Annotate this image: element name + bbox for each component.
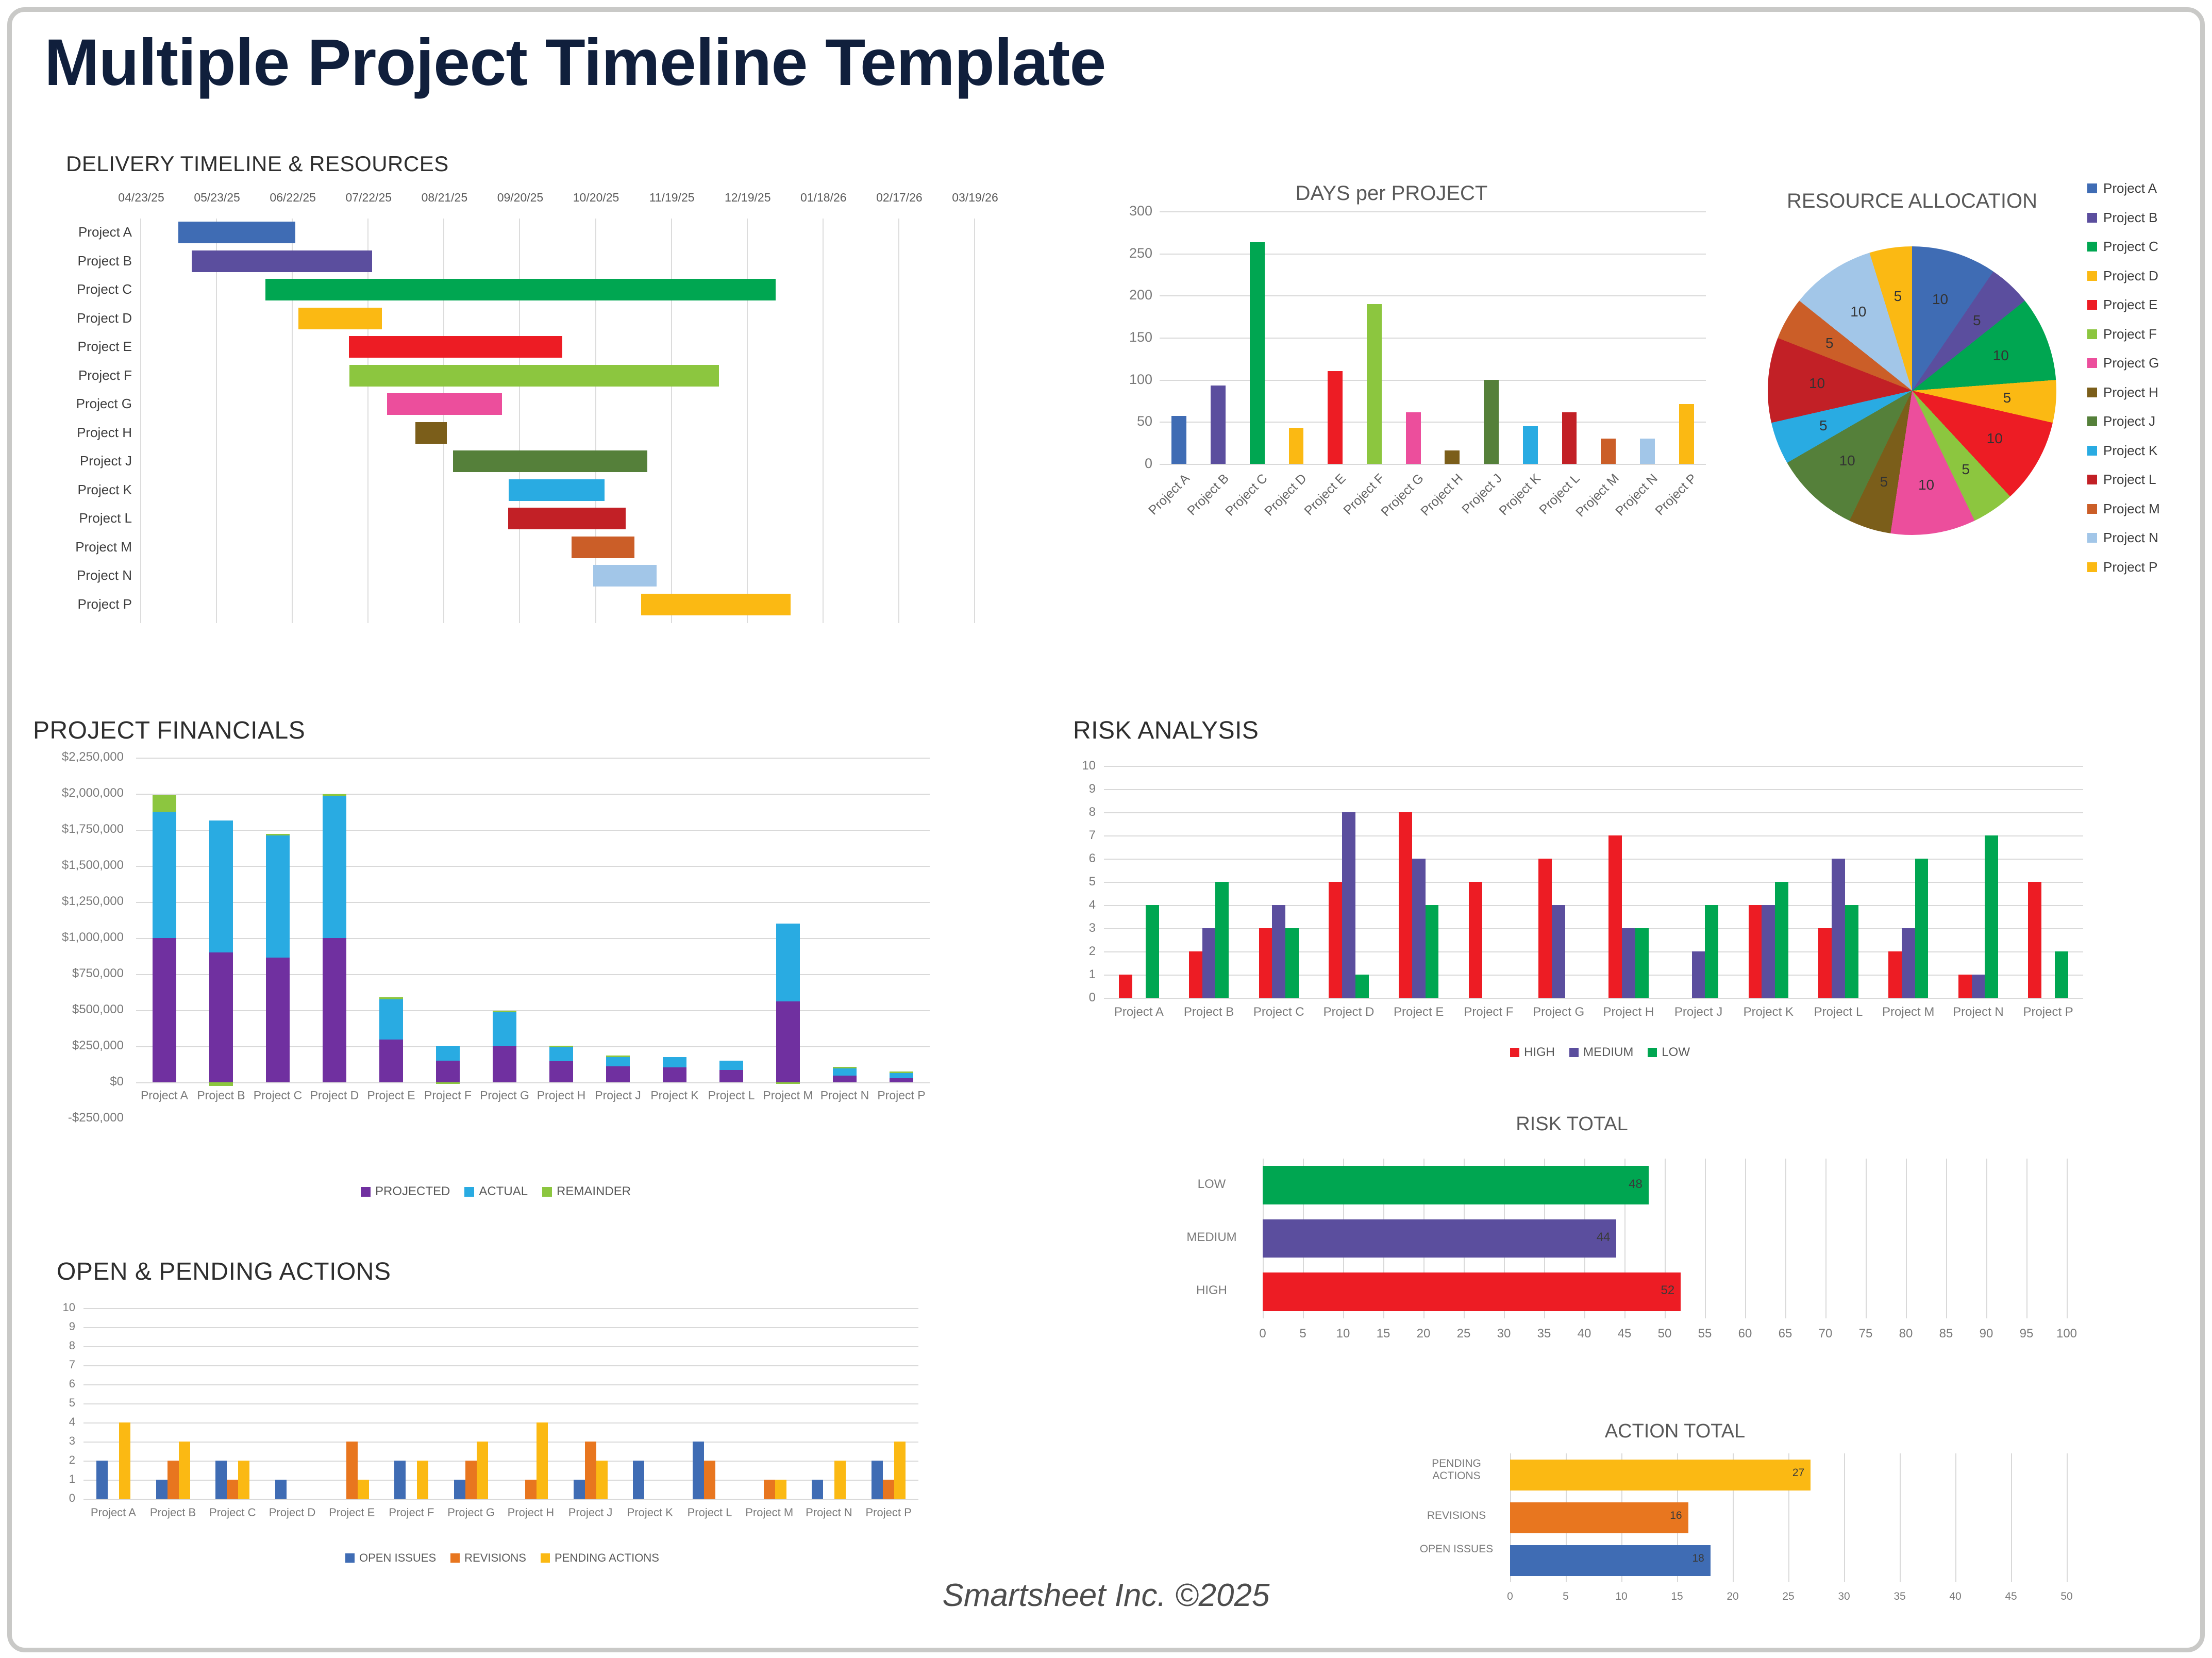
risk-bar-high-project-d[interactable] <box>1329 882 1342 998</box>
risk-bar-high-project-p[interactable] <box>2028 882 2041 998</box>
financials-bar-projected[interactable] <box>719 1070 743 1082</box>
gantt-bar-project-c[interactable] <box>265 279 776 300</box>
x-axis-tick: Project C <box>1244 1005 1314 1019</box>
action-bar-revisions-project-h[interactable] <box>525 1480 537 1499</box>
risk-bar-high-project-k[interactable] <box>1749 905 1762 998</box>
y-axis-tick: 6 <box>1073 851 1096 866</box>
risk-bar-low-project-n[interactable] <box>1985 835 1998 998</box>
days-bar-project-j[interactable] <box>1484 380 1499 464</box>
x-axis-tick: Project N <box>1943 1005 2014 1019</box>
action-bar-revisions-project-e[interactable] <box>346 1442 358 1499</box>
gridline <box>1160 380 1706 381</box>
y-axis-tick: $2,250,000 <box>33 750 124 764</box>
financials-bar-actual[interactable] <box>266 835 290 958</box>
x-axis-tick: Project P <box>2013 1005 2083 1019</box>
gridline <box>136 866 930 867</box>
legend-swatch <box>2087 562 2097 572</box>
risk-bar-high-project-g[interactable] <box>1538 859 1552 998</box>
gantt-row-label-project-l: Project L <box>62 510 132 526</box>
y-axis-tick: 2 <box>1073 944 1096 959</box>
project-financials-chart: -$250,000$0$250,000$500,000$750,000$1,00… <box>33 752 940 1175</box>
x-axis-tick: 40 <box>1562 1327 1607 1341</box>
gridline <box>1160 254 1706 255</box>
financials-bar-actual[interactable] <box>719 1061 743 1070</box>
action-bar-pending-actions-project-n[interactable] <box>834 1461 846 1499</box>
risk-total-bar-low[interactable] <box>1263 1166 1649 1204</box>
risk-bar-high-project-b[interactable] <box>1189 951 1202 998</box>
financials-bar-projected[interactable] <box>493 1046 516 1082</box>
risk-bar-high-project-c[interactable] <box>1259 928 1272 998</box>
legend-item-revisions[interactable]: REVISIONS <box>450 1551 526 1565</box>
financials-bar-actual[interactable] <box>606 1057 630 1067</box>
risk-bar-medium-project-h[interactable] <box>1622 928 1635 998</box>
risk-bar-low-project-k[interactable] <box>1775 882 1788 998</box>
legend-label: Project N <box>2103 530 2158 546</box>
legend-swatch <box>2087 358 2097 368</box>
x-axis-tick: Project C <box>203 1506 262 1519</box>
financials-bar-remainder[interactable] <box>209 1082 233 1086</box>
days-bar-project-f[interactable] <box>1367 304 1382 464</box>
financials-bar-actual[interactable] <box>323 796 346 938</box>
gridline <box>83 1461 918 1462</box>
action-bar-pending-actions-project-a[interactable] <box>119 1422 130 1499</box>
pie-slice-label: 5 <box>1819 417 1828 434</box>
financials-bar-remainder[interactable] <box>776 1082 800 1084</box>
data-label: 18 <box>1682 1552 1704 1565</box>
gridline <box>1160 295 1706 296</box>
financials-bar-actual[interactable] <box>549 1047 573 1061</box>
financials-bar-actual[interactable] <box>663 1057 686 1067</box>
gridline <box>1705 1159 1706 1318</box>
risk-bar-low-project-e[interactable] <box>1426 905 1439 998</box>
x-axis-tick: 10 <box>1320 1327 1366 1341</box>
gantt-row-label-project-j: Project J <box>62 453 132 469</box>
x-axis-tick: Project E <box>1272 471 1349 547</box>
gantt-bar-project-b[interactable] <box>192 250 372 272</box>
y-axis-tick: 1 <box>1073 967 1096 982</box>
gantt-bar-project-k[interactable] <box>509 479 605 501</box>
legend-label: Project L <box>2103 472 2156 488</box>
legend-label: ACTUAL <box>479 1184 528 1199</box>
financials-bar-remainder[interactable] <box>266 834 290 835</box>
pie-legend-item-project-b[interactable]: Project B <box>2087 210 2160 226</box>
x-axis-tick: 0 <box>1240 1327 1285 1341</box>
financials-legend-remainder[interactable]: REMAINDER <box>542 1184 631 1199</box>
risk-bar-medium-project-b[interactable] <box>1202 928 1216 998</box>
pie-slice-label: 10 <box>1918 477 1934 493</box>
gridline <box>2067 1453 2068 1582</box>
x-axis-tick: Project J <box>1429 471 1505 547</box>
action-bar-open-issues-project-n[interactable] <box>812 1480 823 1499</box>
action-bar-pending-actions-project-b[interactable] <box>179 1442 190 1499</box>
risk-bar-high-project-m[interactable] <box>1888 951 1902 998</box>
gridline <box>83 1327 918 1328</box>
x-axis-tick: 55 <box>1682 1327 1728 1341</box>
action-bar-revisions-project-g[interactable] <box>465 1461 477 1499</box>
financials-bar-actual[interactable] <box>833 1068 857 1076</box>
gridline <box>1986 1159 1987 1318</box>
action-bar-open-issues-project-b[interactable] <box>156 1480 167 1499</box>
risk-bar-high-project-h[interactable] <box>1608 835 1622 998</box>
gridline <box>83 1365 918 1366</box>
days-bar-project-n[interactable] <box>1640 439 1655 464</box>
gantt-bar-project-a[interactable] <box>178 222 295 243</box>
y-axis-tick: 8 <box>57 1339 75 1352</box>
y-axis-tick: 0 <box>57 1492 75 1505</box>
open-pending-actions-legend: OPEN ISSUESREVISIONSPENDING ACTIONS <box>345 1551 674 1565</box>
action-bar-revisions-project-p[interactable] <box>883 1480 894 1499</box>
risk-bar-low-project-m[interactable] <box>1915 859 1929 998</box>
x-axis-tick: 70 <box>1803 1327 1848 1341</box>
financials-bar-remainder[interactable] <box>379 997 403 999</box>
legend-label: Project D <box>2103 268 2158 284</box>
days-bar-project-d[interactable] <box>1289 428 1304 464</box>
gridline <box>2011 1453 2012 1582</box>
gridline <box>1160 422 1706 423</box>
financials-bar-projected[interactable] <box>776 1001 800 1082</box>
gridline <box>1160 464 1706 465</box>
section-title-actions: OPEN & PENDING ACTIONS <box>57 1258 391 1286</box>
gridline <box>1104 928 2083 929</box>
gantt-row-label-project-g: Project G <box>62 396 132 412</box>
gridline <box>136 758 930 759</box>
days-bar-project-g[interactable] <box>1406 412 1421 464</box>
pie-legend-item-project-d[interactable]: Project D <box>2087 268 2160 284</box>
gantt-date-label: 03/19/26 <box>944 191 1006 205</box>
x-axis-tick: 20 <box>1401 1327 1446 1341</box>
risk-bar-medium-project-c[interactable] <box>1272 905 1285 998</box>
action-bar-open-issues-project-k[interactable] <box>633 1461 644 1499</box>
risk-bar-high-project-l[interactable] <box>1818 928 1832 998</box>
legend-label: REVISIONS <box>464 1551 526 1565</box>
gantt-row-label-project-f: Project F <box>62 367 132 383</box>
pie-slice-label: 10 <box>1850 304 1866 320</box>
legend-label: REMAINDER <box>557 1184 631 1199</box>
x-axis-tick: Project E <box>1384 1005 1454 1019</box>
y-axis-tick: 9 <box>1073 782 1096 796</box>
y-axis-tick: $0 <box>33 1075 124 1089</box>
financials-bar-projected[interactable] <box>436 1061 460 1082</box>
days-bar-project-m[interactable] <box>1601 439 1616 464</box>
legend-swatch <box>2087 388 2097 397</box>
gantt-date-label: 01/18/26 <box>793 191 854 205</box>
x-axis-tick: Project P <box>1624 471 1700 547</box>
risk-bar-low-project-p[interactable] <box>2055 951 2068 998</box>
risk-bar-high-project-f[interactable] <box>1469 882 1482 998</box>
risk-bar-low-project-h[interactable] <box>1635 928 1649 998</box>
financials-bar-actual[interactable] <box>776 924 800 1001</box>
action-bar-open-issues-project-g[interactable] <box>454 1480 465 1499</box>
action-bar-revisions-project-c[interactable] <box>227 1480 238 1499</box>
legend-label: Project C <box>2103 239 2158 255</box>
x-axis-tick: Project A <box>1117 471 1193 547</box>
action-bar-revisions-project-j[interactable] <box>585 1442 596 1499</box>
y-axis-tick: 2 <box>57 1453 75 1467</box>
action-bar-open-issues-project-d[interactable] <box>275 1480 287 1499</box>
gantt-row-label-project-m: Project M <box>62 539 132 555</box>
legend-item-open-issues[interactable]: OPEN ISSUES <box>345 1551 436 1565</box>
legend-label: Project G <box>2103 355 2159 371</box>
y-axis-tick: 150 <box>1119 329 1152 345</box>
x-axis-tick: Project B <box>1155 471 1232 547</box>
legend-item-low[interactable]: LOW <box>1648 1045 1690 1060</box>
legend-swatch <box>2087 213 2097 223</box>
action-bar-pending-actions-project-f[interactable] <box>417 1461 428 1499</box>
x-axis-tick: Project N <box>1585 471 1661 547</box>
legend-swatch <box>345 1553 355 1563</box>
legend-item-pending-actions[interactable]: PENDING ACTIONS <box>541 1551 659 1565</box>
financials-legend-projected[interactable]: PROJECTED <box>361 1184 450 1199</box>
gridline <box>1844 1453 1845 1582</box>
days-bar-project-p[interactable] <box>1679 404 1694 464</box>
financials-bar-remainder[interactable] <box>323 794 346 796</box>
risk-bar-low-project-b[interactable] <box>1215 882 1229 998</box>
financials-bar-remainder[interactable] <box>606 1056 630 1057</box>
legend-label: Project P <box>2103 559 2158 575</box>
gantt-date-label: 02/17/26 <box>868 191 930 205</box>
resource-allocation-legend: Project AProject BProject CProject DProj… <box>2087 180 2160 588</box>
risk-bar-medium-project-l[interactable] <box>1832 859 1845 998</box>
x-axis-tick: Project J <box>561 1506 621 1519</box>
risk-bar-low-project-c[interactable] <box>1285 928 1299 998</box>
legend-swatch <box>2087 446 2097 456</box>
x-axis-tick: Project H <box>1594 1005 1664 1019</box>
action-bar-open-issues-project-a[interactable] <box>96 1461 108 1499</box>
gantt-gridline <box>974 219 975 623</box>
risk-bar-medium-project-n[interactable] <box>1972 975 1985 998</box>
gantt-bar-project-j[interactable] <box>453 450 647 472</box>
financials-bar-projected[interactable] <box>379 1040 403 1082</box>
x-axis-tick: Project L <box>1803 1005 1873 1019</box>
x-axis-tick: Project D <box>1234 471 1310 547</box>
pie-legend-item-project-a[interactable]: Project A <box>2087 180 2160 196</box>
gantt-bar-project-n[interactable] <box>593 565 657 587</box>
financials-bar-projected[interactable] <box>890 1078 913 1082</box>
financials-bar-projected[interactable] <box>663 1067 686 1082</box>
pie-legend-item-project-h[interactable]: Project H <box>2087 384 2160 400</box>
gridline <box>83 1422 918 1423</box>
days-bar-project-c[interactable] <box>1250 242 1265 464</box>
legend-swatch <box>361 1187 371 1197</box>
x-axis-tick: Project M <box>740 1506 799 1519</box>
pie-slice-label: 10 <box>1809 375 1825 392</box>
pie-legend-item-project-n[interactable]: Project N <box>2087 530 2160 546</box>
legend-item-high[interactable]: HIGH <box>1510 1045 1555 1060</box>
financials-legend-actual[interactable]: ACTUAL <box>464 1184 528 1199</box>
legend-label: Project H <box>2103 384 2158 400</box>
x-axis-tick: Project N <box>799 1506 859 1519</box>
legend-swatch <box>541 1553 550 1563</box>
days-bar-project-h[interactable] <box>1445 450 1460 464</box>
gridline <box>136 794 930 795</box>
x-axis-tick: Project K <box>1468 471 1544 547</box>
gantt-row-label-project-n: Project N <box>62 567 132 583</box>
financials-bar-remainder[interactable] <box>890 1071 913 1073</box>
gridline <box>1104 859 2083 860</box>
risk-bar-medium-project-k[interactable] <box>1762 905 1775 998</box>
risk-bar-high-project-n[interactable] <box>1958 975 1972 998</box>
risk-bar-high-project-a[interactable] <box>1119 975 1132 998</box>
y-axis-tick: 8 <box>1073 805 1096 819</box>
page-title: Multiple Project Timeline Template <box>44 25 1106 101</box>
financials-bar-actual[interactable] <box>890 1072 913 1078</box>
financials-bar-projected[interactable] <box>833 1076 857 1082</box>
gantt-date-label: 10/20/25 <box>565 191 627 205</box>
legend-label: Project A <box>2103 180 2157 196</box>
days-bar-project-e[interactable] <box>1328 371 1343 464</box>
gridline <box>1104 766 2083 767</box>
risk-bar-low-project-a[interactable] <box>1146 905 1159 998</box>
data-label: 52 <box>1652 1283 1674 1298</box>
project-financials-legend: PROJECTEDACTUALREMAINDER <box>361 1184 645 1199</box>
risk-bar-medium-project-j[interactable] <box>1692 951 1705 998</box>
y-axis-tick: $2,000,000 <box>33 786 124 800</box>
pie-legend-item-project-j[interactable]: Project J <box>2087 413 2160 429</box>
action-bar-open-issues-project-l[interactable] <box>693 1442 704 1499</box>
pie-legend-item-project-g[interactable]: Project G <box>2087 355 2160 371</box>
pie-legend-item-project-c[interactable]: Project C <box>2087 239 2160 255</box>
pie-legend-item-project-p[interactable]: Project P <box>2087 559 2160 575</box>
financials-bar-remainder[interactable] <box>153 795 176 812</box>
y-axis-tick: 6 <box>57 1377 75 1391</box>
financials-bar-actual[interactable] <box>379 999 403 1040</box>
financials-bar-projected[interactable] <box>606 1066 630 1082</box>
x-axis-tick: Project L <box>680 1506 740 1519</box>
y-axis-tick: OPEN ISSUES <box>1410 1543 1503 1555</box>
action-bar-pending-actions-project-h[interactable] <box>537 1422 548 1499</box>
risk-bar-high-project-e[interactable] <box>1399 812 1412 998</box>
delivery-timeline-gantt: 04/23/2505/23/2506/22/2507/22/2508/21/25… <box>62 191 974 639</box>
financials-bar-projected[interactable] <box>266 958 290 1082</box>
gridline <box>83 1499 918 1500</box>
x-axis-tick: Project F <box>1312 471 1388 547</box>
days-bar-project-k[interactable] <box>1523 426 1538 464</box>
gantt-bar-project-g[interactable] <box>387 393 502 415</box>
y-axis-tick: 200 <box>1119 287 1152 303</box>
action-total-bar-pending-actions[interactable] <box>1510 1460 1811 1490</box>
y-axis-tick: 0 <box>1073 991 1096 1005</box>
gantt-row-label-project-h: Project H <box>62 425 132 441</box>
y-axis-tick: 10 <box>1073 759 1096 773</box>
risk-total-chart: 0510152025303540455055606570758085909510… <box>1139 1153 2082 1349</box>
legend-label: Project B <box>2103 210 2158 226</box>
risk-total-bar-high[interactable] <box>1263 1272 1681 1311</box>
financials-bar-actual[interactable] <box>153 812 176 938</box>
gantt-bar-project-e[interactable] <box>349 336 562 358</box>
y-axis-tick: 100 <box>1119 372 1152 388</box>
gantt-row-label-project-d: Project D <box>62 310 132 326</box>
days-per-project-title: DAYS per PROJECT <box>1108 182 1675 205</box>
pie-legend-item-project-k[interactable]: Project K <box>2087 443 2160 459</box>
financials-bar-projected[interactable] <box>323 938 346 1082</box>
gantt-bar-project-m[interactable] <box>572 537 635 558</box>
financials-bar-projected[interactable] <box>209 952 233 1082</box>
y-axis-tick: REVISIONS <box>1410 1510 1503 1522</box>
x-axis-tick: Project F <box>382 1506 442 1519</box>
gantt-bar-project-p[interactable] <box>641 594 791 615</box>
legend-label: MEDIUM <box>1583 1045 1633 1060</box>
action-bar-pending-actions-project-p[interactable] <box>894 1442 906 1499</box>
gantt-bar-project-d[interactable] <box>298 308 382 329</box>
legend-swatch <box>1569 1048 1579 1057</box>
financials-bar-actual[interactable] <box>436 1046 460 1061</box>
action-bar-pending-actions-project-e[interactable] <box>358 1480 369 1499</box>
action-bar-pending-actions-project-c[interactable] <box>238 1461 249 1499</box>
risk-bar-medium-project-g[interactable] <box>1552 905 1565 998</box>
y-axis-tick: $1,500,000 <box>33 858 124 873</box>
pie-legend-item-project-e[interactable]: Project E <box>2087 297 2160 313</box>
financials-bar-remainder[interactable] <box>493 1011 516 1012</box>
risk-bar-low-project-d[interactable] <box>1355 975 1369 998</box>
pie-legend-item-project-m[interactable]: Project M <box>2087 501 2160 517</box>
risk-bar-low-project-j[interactable] <box>1705 905 1718 998</box>
open-pending-actions-chart: 012345678910Project AProject BProject CP… <box>57 1304 933 1551</box>
x-axis-tick: Project E <box>322 1506 382 1519</box>
resource-allocation-pie: 105105105105105105105 <box>1768 246 2056 535</box>
financials-bar-remainder[interactable] <box>549 1046 573 1047</box>
action-bar-open-issues-project-j[interactable] <box>574 1480 585 1499</box>
gantt-gridline <box>140 219 141 623</box>
action-bar-open-issues-project-c[interactable] <box>215 1461 227 1499</box>
action-bar-pending-actions-project-m[interactable] <box>775 1480 786 1499</box>
financials-bar-actual[interactable] <box>209 820 233 952</box>
action-bar-revisions-project-m[interactable] <box>764 1480 775 1499</box>
gantt-gridline <box>898 219 899 623</box>
x-axis-tick: 50 <box>1642 1327 1687 1341</box>
action-bar-open-issues-project-p[interactable] <box>872 1461 883 1499</box>
y-axis-tick: 3 <box>57 1434 75 1448</box>
risk-bar-medium-project-m[interactable] <box>1902 928 1915 998</box>
financials-bar-remainder[interactable] <box>436 1082 460 1084</box>
action-bar-revisions-project-b[interactable] <box>167 1461 179 1499</box>
gridline <box>1104 835 2083 836</box>
action-bar-pending-actions-project-g[interactable] <box>477 1442 488 1499</box>
risk-total-bar-medium[interactable] <box>1263 1219 1616 1258</box>
financials-bar-projected[interactable] <box>153 938 176 1082</box>
gridline <box>1955 1453 1956 1582</box>
action-bar-revisions-project-l[interactable] <box>704 1461 715 1499</box>
legend-label: PENDING ACTIONS <box>555 1551 659 1565</box>
action-bar-pending-actions-project-j[interactable] <box>596 1461 608 1499</box>
gridline <box>136 1010 930 1011</box>
gantt-bar-project-l[interactable] <box>508 508 626 529</box>
gridline <box>83 1346 918 1347</box>
financials-bar-projected[interactable] <box>549 1061 573 1082</box>
gantt-date-label: 08/21/25 <box>413 191 475 205</box>
days-bar-project-a[interactable] <box>1171 416 1186 464</box>
gantt-bar-project-h[interactable] <box>415 422 447 444</box>
legend-item-medium[interactable]: MEDIUM <box>1569 1045 1633 1060</box>
days-bar-project-b[interactable] <box>1211 386 1226 464</box>
risk-bar-low-project-l[interactable] <box>1845 905 1858 998</box>
gridline <box>1104 905 2083 906</box>
financials-bar-remainder[interactable] <box>833 1067 857 1068</box>
legend-swatch <box>2087 300 2097 310</box>
pie-legend-item-project-l[interactable]: Project L <box>2087 472 2160 488</box>
legend-label: Project E <box>2103 297 2158 313</box>
gantt-row-label-project-p: Project P <box>62 596 132 612</box>
gantt-bar-project-f[interactable] <box>349 365 719 387</box>
risk-bar-medium-project-e[interactable] <box>1412 859 1426 998</box>
action-total-bar-open-issues[interactable] <box>1510 1545 1711 1576</box>
risk-bar-medium-project-d[interactable] <box>1342 812 1355 998</box>
y-axis-tick: 300 <box>1119 203 1152 219</box>
financials-bar-actual[interactable] <box>493 1012 516 1046</box>
gridline <box>1900 1453 1901 1582</box>
days-bar-project-l[interactable] <box>1562 412 1577 464</box>
action-bar-open-issues-project-f[interactable] <box>394 1461 406 1499</box>
pie-legend-item-project-f[interactable]: Project F <box>2087 326 2160 342</box>
